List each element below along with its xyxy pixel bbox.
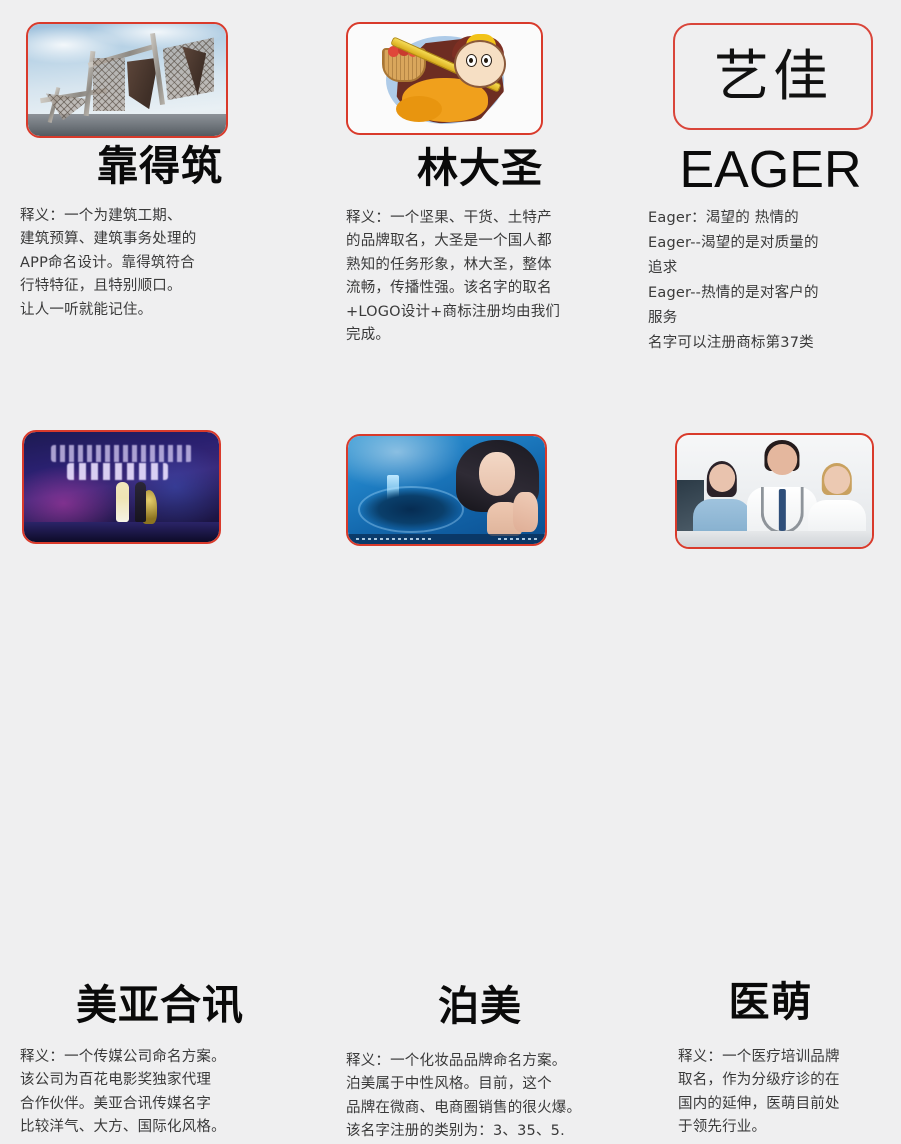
stage-floor xyxy=(24,522,219,542)
brand-showcase-grid: 靠得筑 释义：一个为建筑工期、 建筑预算、建筑事务处理的 APP命名设计。靠得筑… xyxy=(0,0,901,786)
ceremony-subheadline-text xyxy=(67,463,168,481)
consultation-desk xyxy=(677,531,872,547)
brand-name: 泊美 xyxy=(320,986,640,1027)
architecture-photo xyxy=(28,24,226,136)
monkey-logo-frame[interactable] xyxy=(346,22,543,135)
brand-name: EAGER xyxy=(640,140,901,200)
brand-description: 释义：一个为建筑工期、 建筑预算、建筑事务处理的 APP命名设计。靠得筑符合 行… xyxy=(20,205,288,322)
ceremony-photo-frame[interactable] xyxy=(22,430,221,544)
cosmetics-ad-photo xyxy=(348,436,545,544)
model-portrait xyxy=(454,440,541,539)
monkey-eye xyxy=(481,54,492,67)
stethoscope-icon xyxy=(761,487,803,533)
building-deck xyxy=(28,114,226,136)
staff-head xyxy=(824,466,850,493)
brand-description: 释义：一个坚果、干货、土特产 的品牌取名，大圣是一个国人都 熟知的任务形象，林大… xyxy=(346,207,624,348)
ad-caption-strip xyxy=(348,534,545,544)
monkey-head xyxy=(454,40,506,88)
brand-card-kaodezhu[interactable]: 靠得筑 释义：一个为建筑工期、 建筑预算、建筑事务处理的 APP命名设计。靠得筑… xyxy=(0,0,320,420)
gold-cloud-shape xyxy=(396,96,442,122)
brand-name: 美亚合讯 xyxy=(0,985,320,1026)
award-ceremony-photo xyxy=(24,432,219,542)
medical-photo-frame[interactable] xyxy=(675,433,874,549)
brand-card-meiyaheixun[interactable]: 美亚合讯 释义：一个传媒公司命名方案。 该公司为百花电影奖独家代理 合作伙伴。美… xyxy=(0,420,320,786)
monkey-eye xyxy=(466,54,477,67)
host-figure-female xyxy=(116,482,129,522)
truss-mesh-panel xyxy=(93,58,125,112)
model-face xyxy=(479,452,515,496)
brand-description: 释义：一个医疗培训品牌 取名，作为分级疗诊的在 国内的延伸，医萌目前处 于领先行… xyxy=(678,1046,901,1140)
brand-name: 林大圣 xyxy=(320,148,640,189)
brand-card-yimeng[interactable]: 医萌 释义：一个医疗培训品牌 取名，作为分级疗诊的在 国内的延伸，医萌目前处 于… xyxy=(640,420,901,786)
brand-card-bomei[interactable]: 泊美 释义：一个化妆品品牌命名方案。 泊美属于中性风格。目前，这个 品牌在微商、… xyxy=(320,420,640,786)
brand-description: 释义：一个传媒公司命名方案。 该公司为百花电影奖独家代理 合作伙伴。美亚合讯传媒… xyxy=(20,1046,292,1140)
host-figure-male xyxy=(135,482,146,522)
brand-card-eager[interactable]: 艺佳 EAGER Eager：渴望的 热情的 Eager--渴望的是对质量的 追… xyxy=(640,0,901,420)
water-highlight xyxy=(348,436,466,490)
brand-description: 释义：一个化妆品品牌命名方案。 泊美属于中性风格。目前，这个 品牌在微商、电商圈… xyxy=(346,1050,628,1144)
ceremony-headline-text xyxy=(51,445,191,462)
chinese-wordmark: 艺佳 xyxy=(714,49,832,104)
wordmark-frame[interactable]: 艺佳 xyxy=(673,23,873,130)
model-hand xyxy=(513,492,537,532)
medical-team-photo xyxy=(677,435,872,547)
brand-card-lindasheng[interactable]: 林大圣 释义：一个坚果、干货、土特产 的品牌取名，大圣是一个国人都 熟知的任务形… xyxy=(320,0,640,420)
water-ripple xyxy=(360,488,462,531)
staff-head xyxy=(709,464,735,492)
brand-name: 医萌 xyxy=(640,982,901,1023)
monkey-mascot-logo xyxy=(348,24,541,133)
architecture-photo-frame[interactable] xyxy=(26,22,228,138)
brand-description: Eager：渴望的 热情的 Eager--渴望的是对质量的 追求 Eager--… xyxy=(648,206,898,356)
cosmetics-photo-frame[interactable] xyxy=(346,434,547,546)
brand-name: 靠得筑 xyxy=(0,146,320,187)
